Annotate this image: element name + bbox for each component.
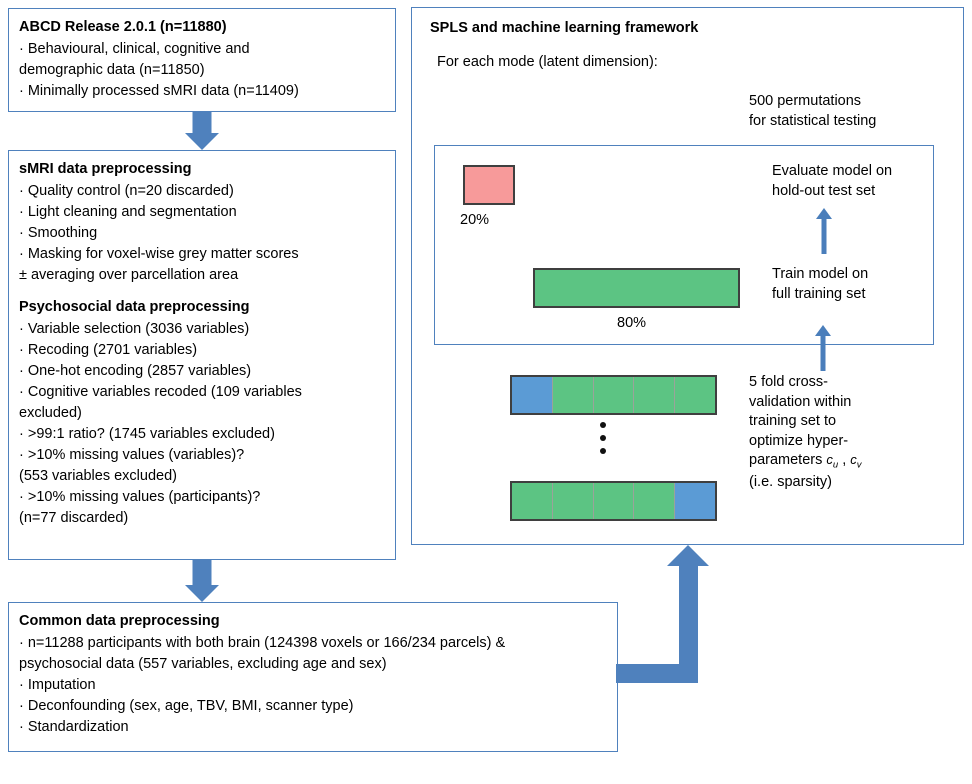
note-cv-line-1: 5 fold cross-	[749, 373, 862, 393]
flowchart-figure: ABCD Release 2.0.1 (n=11880) · Behaviour…	[0, 0, 972, 784]
fold-segment-train-2	[553, 483, 594, 519]
fold-segment-train-1	[512, 483, 553, 519]
box-common-preprocessing: Common data preprocessing · n=11288 part…	[8, 602, 618, 752]
fold-segment-validation	[675, 483, 715, 519]
note-cross-validation: 5 fold cross- validation within training…	[749, 373, 862, 492]
note-cv-parameters-prefix: parameters	[749, 452, 826, 468]
arrow-up-cv-to-train	[811, 325, 835, 371]
fold-segment-train-3	[594, 483, 635, 519]
note-train-line-1: Train model on	[772, 265, 868, 285]
box-common-line-4: · Deconfounding (sex, age, TBV, BMI, sca…	[19, 696, 608, 717]
box-smri-line-4: · Masking for voxel-wise grey matter sco…	[19, 244, 386, 265]
note-cv-line-parameters: parameters cu , cv	[749, 451, 862, 472]
box-common-line-2: psychosocial data (557 variables, exclud…	[19, 654, 608, 675]
fold-segment-train-3	[634, 377, 675, 413]
note-cv-line-4: optimize hyper-	[749, 432, 862, 452]
box-psychosocial-line-7: · >10% missing values (variables)?	[19, 445, 386, 466]
box-smri-title: sMRI data preprocessing	[19, 159, 386, 180]
vertical-ellipsis-icon	[600, 422, 606, 454]
box-abcd-title: ABCD Release 2.0.1 (n=11880)	[19, 17, 386, 38]
box-psychosocial-line-4: · Cognitive variables recoded (109 varia…	[19, 382, 386, 403]
spls-panel-title: SPLS and machine learning framework	[430, 20, 698, 36]
box-data-preprocessing: sMRI data preprocessing · Quality contro…	[8, 150, 396, 560]
box-common-title: Common data preprocessing	[19, 611, 608, 632]
box-psychosocial-line-6: · >99:1 ratio? (1745 variables excluded)	[19, 424, 386, 445]
box-psychosocial-line-3: · One-hot encoding (2857 variables)	[19, 361, 386, 382]
note-train-line-2: full training set	[772, 285, 868, 305]
hyperparameter-cu: cu	[826, 452, 838, 467]
arrow-elbow-common-to-spls	[616, 545, 736, 685]
arrow-up-train-to-evaluate	[812, 208, 836, 254]
fold-segment-train-2	[594, 377, 635, 413]
bar-holdout-test-set	[463, 165, 515, 205]
arrow-down-preprocessing-to-common	[182, 560, 222, 602]
box-psychosocial-line-5: excluded)	[19, 403, 386, 424]
note-permutations-line-1: 500 permutations	[749, 92, 876, 112]
note-cv-line-sparsity: (i.e. sparsity)	[749, 473, 862, 493]
fold-segment-train-4	[675, 377, 715, 413]
note-cv-line-2: validation within	[749, 393, 862, 413]
note-permutations: 500 permutations for statistical testing	[749, 92, 876, 131]
bar-full-training-set	[533, 268, 740, 308]
box-smri-line-2: · Light cleaning and segmentation	[19, 202, 386, 223]
box-psychosocial-line-2: · Recoding (2701 variables)	[19, 340, 386, 361]
box-abcd-line-2: demographic data (n=11850)	[19, 60, 386, 81]
box-smri-line-3: · Smoothing	[19, 223, 386, 244]
box-smri-line-1: · Quality control (n=20 discarded)	[19, 181, 386, 202]
box-psychosocial-line-9: · >10% missing values (participants)?	[19, 487, 386, 508]
fold-segment-validation	[512, 377, 553, 413]
box-abcd-release: ABCD Release 2.0.1 (n=11880) · Behaviour…	[8, 8, 396, 112]
note-cv-line-3: training set to	[749, 412, 862, 432]
label-test-percentage: 20%	[460, 212, 489, 228]
panel-spls-framework: SPLS and machine learning framework For …	[411, 7, 964, 545]
box-common-line-3: · Imputation	[19, 675, 608, 696]
note-evaluate-line-2: hold-out test set	[772, 182, 892, 202]
fold-segment-train-4	[634, 483, 675, 519]
box-psychosocial-line-1: · Variable selection (3036 variables)	[19, 319, 386, 340]
box-common-line-5: · Standardization	[19, 717, 608, 738]
section-gap	[19, 286, 386, 297]
box-abcd-line-1: · Behavioural, clinical, cognitive and	[19, 39, 386, 60]
bar-cv-fold-first	[510, 375, 717, 415]
spls-panel-subtitle: For each mode (latent dimension):	[437, 54, 658, 70]
label-train-percentage: 80%	[617, 315, 646, 331]
fold-segment-train-1	[553, 377, 594, 413]
note-evaluate-model: Evaluate model on hold-out test set	[772, 162, 892, 201]
arrow-down-abcd-to-preprocessing	[182, 112, 222, 150]
box-psychosocial-line-10: (n=77 discarded)	[19, 508, 386, 529]
note-evaluate-line-1: Evaluate model on	[772, 162, 892, 182]
box-abcd-line-3: · Minimally processed sMRI data (n=11409…	[19, 81, 386, 102]
note-permutations-line-2: for statistical testing	[749, 112, 876, 132]
box-psychosocial-title: Psychosocial data preprocessing	[19, 297, 386, 318]
hyperparameter-cv: cv	[850, 452, 861, 467]
box-psychosocial-line-8: (553 variables excluded)	[19, 466, 386, 487]
box-common-line-1: · n=11288 participants with both brain (…	[19, 633, 608, 654]
bar-cv-fold-last	[510, 481, 717, 521]
note-train-model: Train model on full training set	[772, 265, 868, 304]
panel-train-test-split: 20% 80% Evaluate model on hold-out test …	[434, 145, 934, 345]
box-smri-line-5: ± averaging over parcellation area	[19, 265, 386, 286]
note-cv-parameters-separator: ,	[838, 452, 850, 468]
